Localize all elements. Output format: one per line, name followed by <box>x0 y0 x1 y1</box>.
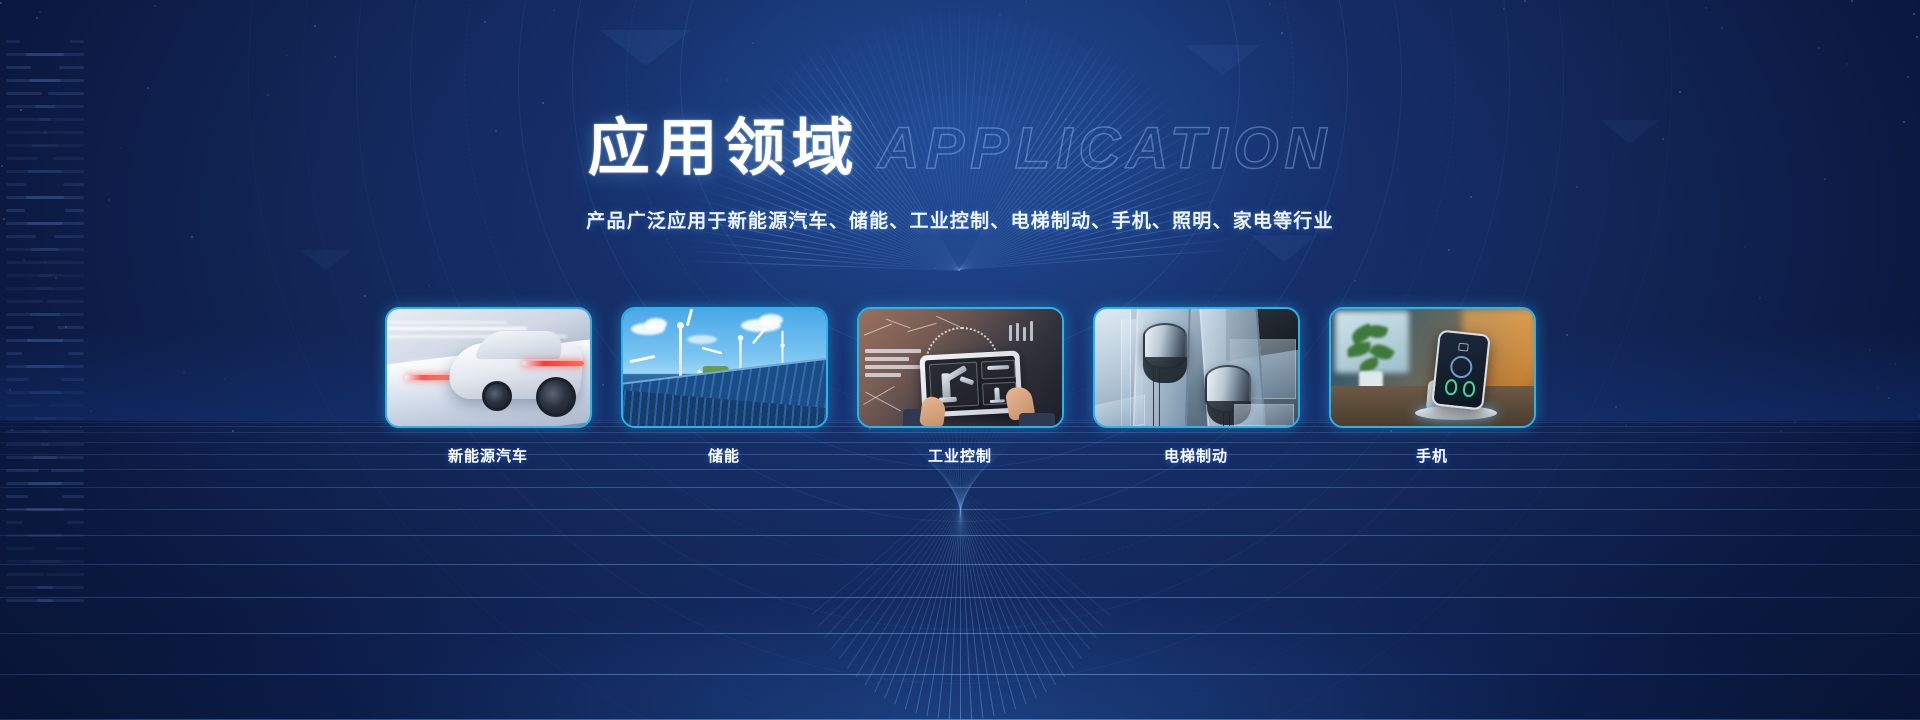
banner-header: 应用领域 APPLICATION 产品广泛应用于新能源汽车、储能、工业控制、电梯… <box>0 118 1920 233</box>
page-title: 应用领域 <box>588 118 860 180</box>
application-banner: 应用领域 APPLICATION 产品广泛应用于新能源汽车、储能、工业控制、电梯… <box>0 0 1920 720</box>
charging-ring-icon <box>1449 355 1473 379</box>
earbud-icon-right <box>1462 380 1476 397</box>
elevator-shaft-image <box>1095 309 1298 426</box>
card-label: 手机 <box>1329 445 1536 466</box>
card-image-frame[interactable] <box>1329 307 1536 428</box>
title-row: 应用领域 APPLICATION <box>588 118 1333 180</box>
smartphone <box>1431 329 1491 410</box>
card-image-frame[interactable] <box>385 307 592 428</box>
application-card-mobile-phone[interactable]: 手机 <box>1329 307 1536 466</box>
card-image-frame[interactable] <box>1093 307 1300 428</box>
page-subtitle: 产品广泛应用于新能源汽车、储能、工业控制、电梯制动、手机、照明、家电等行业 <box>0 206 1920 233</box>
sports-car-image <box>387 309 590 426</box>
application-card-list: 新能源汽车 <box>0 307 1920 466</box>
application-card-elevator-brake[interactable]: 电梯制动 <box>1093 307 1300 466</box>
card-label: 储能 <box>621 445 828 466</box>
card-label: 工业控制 <box>857 445 1064 466</box>
card-image-frame[interactable] <box>857 307 1064 428</box>
industrial-tablet-image <box>859 309 1062 426</box>
card-image-frame[interactable] <box>621 307 828 428</box>
card-label: 电梯制动 <box>1093 445 1300 466</box>
earbud-icon-left <box>1444 378 1458 395</box>
solar-wind-image <box>623 309 826 426</box>
page-title-english: APPLICATION <box>878 120 1333 178</box>
card-label: 新能源汽车 <box>385 445 592 466</box>
wind-turbine <box>679 325 682 381</box>
app-icon <box>1458 343 1469 352</box>
wireless-charging-phone-image <box>1331 309 1534 426</box>
application-card-new-energy-vehicle[interactable]: 新能源汽车 <box>385 307 592 466</box>
application-card-industrial-control[interactable]: 工业控制 <box>857 307 1064 466</box>
application-card-energy-storage[interactable]: 储能 <box>621 307 828 466</box>
